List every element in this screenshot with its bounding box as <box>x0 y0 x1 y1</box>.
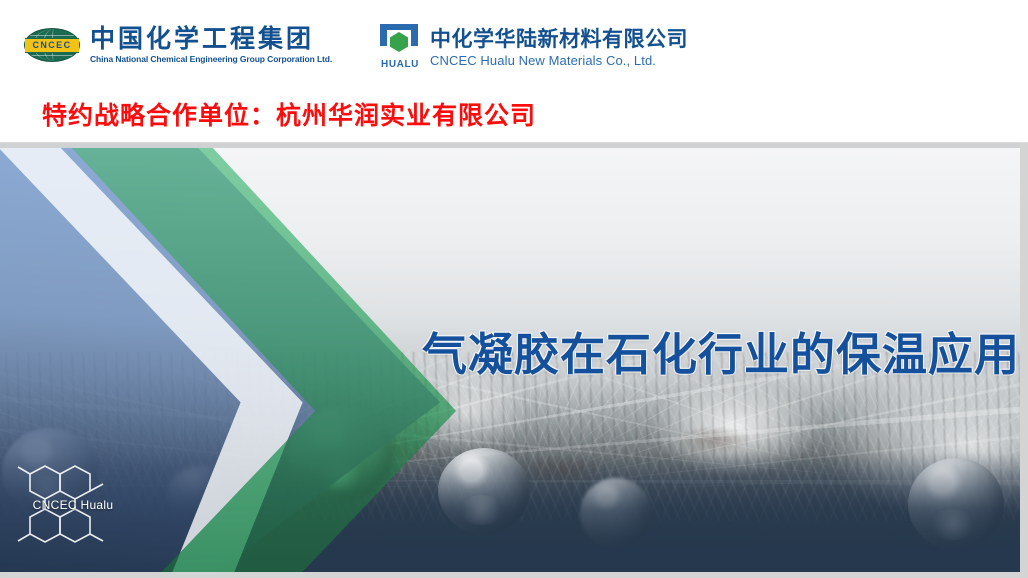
hero-image: 气凝胶在石化行业的保温应用 CNCEC Hualu <box>0 148 1020 572</box>
watermark-label: CNCEC Hualu <box>8 498 138 512</box>
bottom-margin <box>0 572 1028 578</box>
hualu-chinese-name: 中化学华陆新材料有限公司 <box>430 28 688 51</box>
slide-header: CNCEC 中国化学工程集团 China National Chemical E… <box>0 0 1028 143</box>
partner-statement: 特约战略合作单位：杭州华润实业有限公司 <box>42 96 536 132</box>
hexagon-lattice-watermark: CNCEC Hualu <box>8 460 138 556</box>
page-title: 气凝胶在石化行业的保温应用 <box>336 330 1020 380</box>
presentation-slide: CNCEC 中国化学工程集团 China National Chemical E… <box>0 0 1028 578</box>
right-margin <box>1020 143 1028 578</box>
cncec-logo: CNCEC 中国化学工程集团 China National Chemical E… <box>24 26 332 64</box>
hualu-bracket-hexagon-icon: HUALU <box>378 24 422 72</box>
cncec-wordmark: CNCEC <box>25 38 79 53</box>
logo-row: CNCEC 中国化学工程集团 China National Chemical E… <box>0 22 1028 78</box>
hualu-english-name: CNCEC Hualu New Materials Co., Ltd. <box>430 53 688 68</box>
hualu-wordmark: HUALU <box>378 59 422 70</box>
cncec-english-name: China National Chemical Engineering Grou… <box>90 54 332 64</box>
hualu-logo: HUALU 中化学华陆新材料有限公司 CNCEC Hualu New Mater… <box>378 24 688 72</box>
cncec-chinese-name: 中国化学工程集团 <box>90 26 332 52</box>
globe-icon: CNCEC <box>24 28 80 62</box>
